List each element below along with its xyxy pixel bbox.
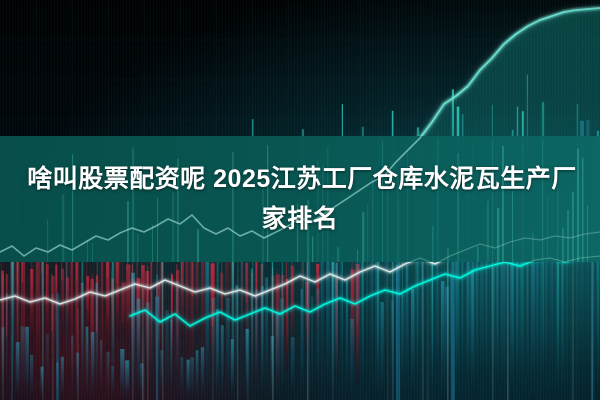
- band-line-overlay: [0, 0, 600, 400]
- banner-image: 啥叫股票配资呢 2025江苏工厂仓库水泥瓦生产厂 家排名: [0, 0, 600, 400]
